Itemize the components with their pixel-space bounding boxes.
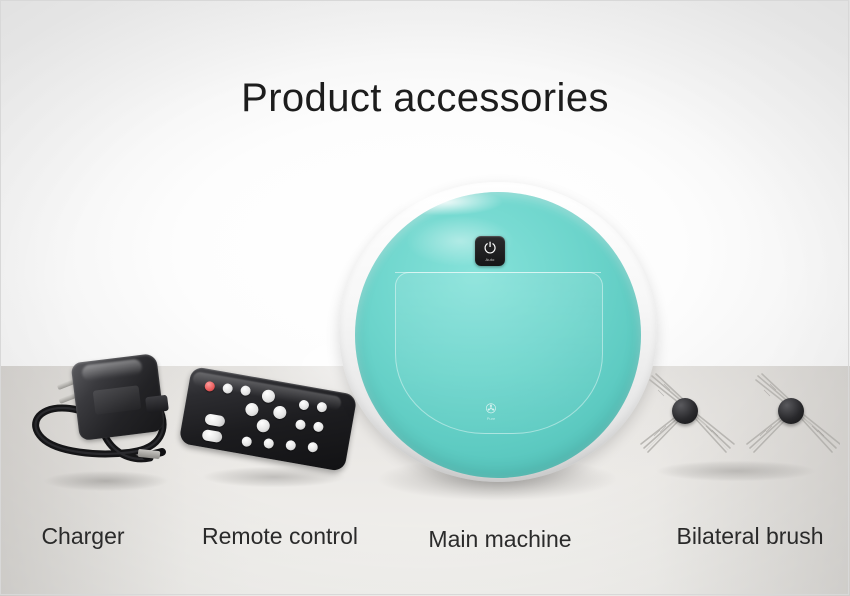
charger-cable-strain-relief [145, 395, 169, 414]
remote-clean-button [201, 429, 223, 443]
main-machine-product: ⏻ Auto ✇ Pure [333, 180, 663, 510]
caption-charger: Charger [0, 523, 166, 550]
machine-dustbin-lid [395, 272, 603, 434]
machine-lid-seam [395, 272, 601, 273]
machine-power-button[interactable]: ⏻ Auto [475, 236, 505, 266]
remote-down-button [256, 418, 271, 433]
machine-front-sensor: ✇ Pure [483, 402, 499, 424]
brush-bristle-arms [630, 370, 840, 490]
machine-power-label: Auto [485, 257, 494, 262]
fan-icon: ✇ [486, 402, 497, 415]
remote-button [298, 399, 310, 411]
brush-hub [778, 398, 804, 424]
remote-mode-button [204, 413, 226, 427]
remote-button [316, 401, 328, 413]
brush-hub [672, 398, 698, 424]
remote-button [222, 383, 234, 395]
remote-power-button [204, 381, 216, 393]
remote-button [313, 421, 325, 433]
caption-remote-control: Remote control [160, 523, 400, 550]
caption-bilateral-brush: Bilateral brush [610, 523, 850, 550]
charger-product [20, 340, 200, 505]
page-title: Product accessories [0, 76, 850, 121]
remote-button [240, 385, 252, 397]
remote-button [263, 438, 275, 450]
remote-up-button [261, 389, 276, 404]
product-accessories-poster: Product accessories [0, 0, 850, 596]
power-icon: ⏻ [484, 242, 496, 256]
remote-button [285, 440, 297, 452]
remote-button-grid [179, 366, 358, 472]
remote-button [295, 419, 307, 431]
bilateral-brush-product [630, 370, 840, 500]
remote-button [241, 436, 253, 448]
machine-brand-label: Pure [487, 416, 495, 421]
remote-left-button [244, 402, 259, 417]
caption-main-machine: Main machine [392, 526, 608, 553]
remote-button [307, 441, 319, 453]
remote-right-button [272, 405, 287, 420]
